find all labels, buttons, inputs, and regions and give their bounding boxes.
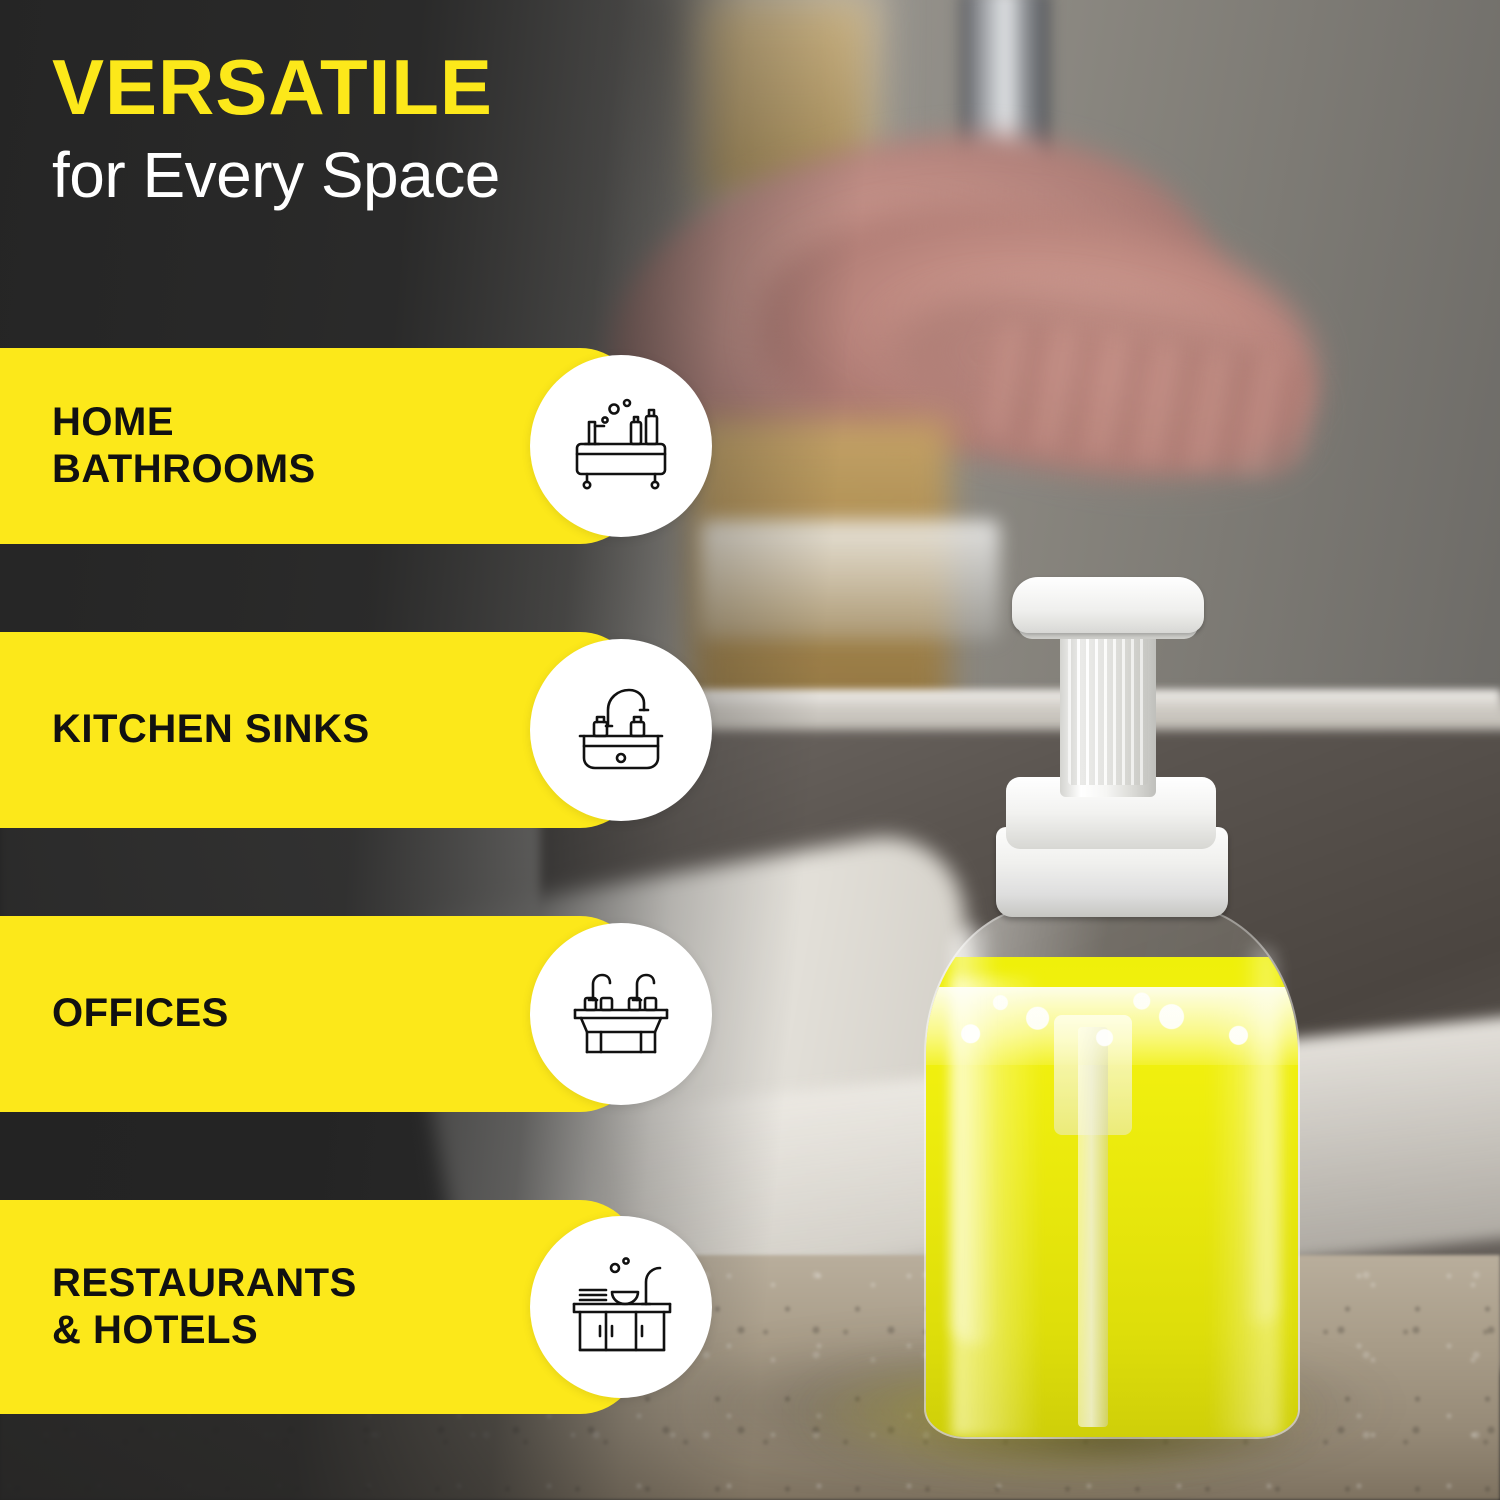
feature-bar-kitchen-sinks[interactable]: KITCHEN SINKS xyxy=(0,632,640,828)
feature-bar-restaurants-hotels[interactable]: RESTAURANTS & HOTELS xyxy=(0,1200,640,1414)
feature-label-home-bathrooms: HOME BATHROOMS xyxy=(52,399,482,493)
commercial-kitchen-icon xyxy=(566,1256,676,1358)
feature-bar-offices[interactable]: OFFICES xyxy=(0,916,640,1112)
feature-label-line1: HOME xyxy=(52,399,482,446)
feature-label-offices: OFFICES xyxy=(52,990,482,1037)
feature-label-kitchen-sinks: KITCHEN SINKS xyxy=(52,706,482,753)
feature-label-line2: & HOTELS xyxy=(52,1307,482,1354)
feature-label-line1: KITCHEN SINKS xyxy=(52,706,482,753)
feature-icon-badge-kitchen-sinks xyxy=(530,639,712,821)
feature-icon-badge-offices xyxy=(530,923,712,1105)
feature-icon-badge-home-bathrooms xyxy=(530,355,712,537)
feature-label-line2: BATHROOMS xyxy=(52,446,482,493)
bathtub-icon xyxy=(567,396,675,496)
feature-bar-home-bathrooms[interactable]: HOME BATHROOMS xyxy=(0,348,640,544)
feature-label-restaurants-hotels: RESTAURANTS & HOTELS xyxy=(52,1260,482,1354)
infographic-canvas: VERSATILE for Every Space HOME BATHROOMS xyxy=(0,0,1500,1500)
double-vanity-sink-icon xyxy=(567,964,675,1064)
kitchen-sink-icon xyxy=(568,680,674,780)
feature-label-line1: OFFICES xyxy=(52,990,482,1037)
feature-icon-badge-restaurants-hotels xyxy=(530,1216,712,1398)
feature-bar-list: HOME BATHROOMS xyxy=(0,0,700,1500)
feature-label-line1: RESTAURANTS xyxy=(52,1260,482,1307)
